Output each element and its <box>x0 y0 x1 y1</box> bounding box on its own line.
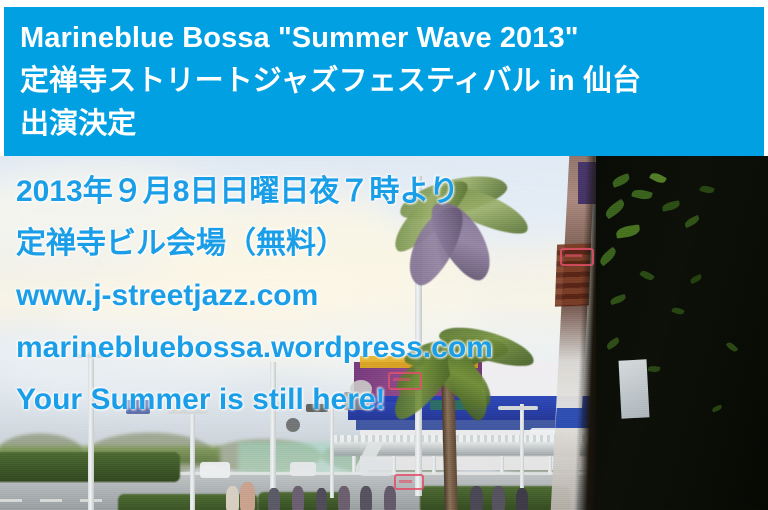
body-line-url-blog[interactable]: marinebluebossa.wordpress.com <box>16 322 756 374</box>
pedestrian <box>492 486 505 510</box>
pedestrian <box>226 486 239 510</box>
body-line-date: 2013年９月8日日曜日夜７時より <box>16 166 756 218</box>
pedestrian <box>268 488 280 510</box>
pedestrian <box>240 482 255 510</box>
pedestrian <box>292 486 304 510</box>
vehicle <box>200 462 230 478</box>
pedestrian <box>470 486 483 510</box>
pedestrian <box>360 486 372 510</box>
pedestrian <box>338 486 350 510</box>
pedestrian <box>384 486 396 510</box>
pedestrian <box>516 488 528 510</box>
banner-line-1: Marineblue Bossa "Summer Wave 2013" <box>20 17 748 60</box>
pedestrian <box>316 488 327 510</box>
body-text-block: 2013年９月8日日曜日夜７時より 定禅寺ビル会場（無料） www.j-stre… <box>16 166 756 426</box>
body-line-venue: 定禅寺ビル会場（無料） <box>16 218 756 270</box>
banner-line-2: 定禅寺ストリートジャズフェスティバル in 仙台 <box>20 60 748 103</box>
banner-line-3: 出演決定 <box>20 103 748 146</box>
red-sample-mark <box>394 474 424 490</box>
vehicle <box>290 462 316 476</box>
title-banner: Marineblue Bossa "Summer Wave 2013" 定禅寺ス… <box>4 7 764 156</box>
body-line-url-festival[interactable]: www.j-streetjazz.com <box>16 270 756 322</box>
vehicle <box>360 460 392 476</box>
body-line-tagline: Your Summer is still here! <box>16 374 756 426</box>
poster-image: Marineblue Bossa "Summer Wave 2013" 定禅寺ス… <box>0 0 768 510</box>
